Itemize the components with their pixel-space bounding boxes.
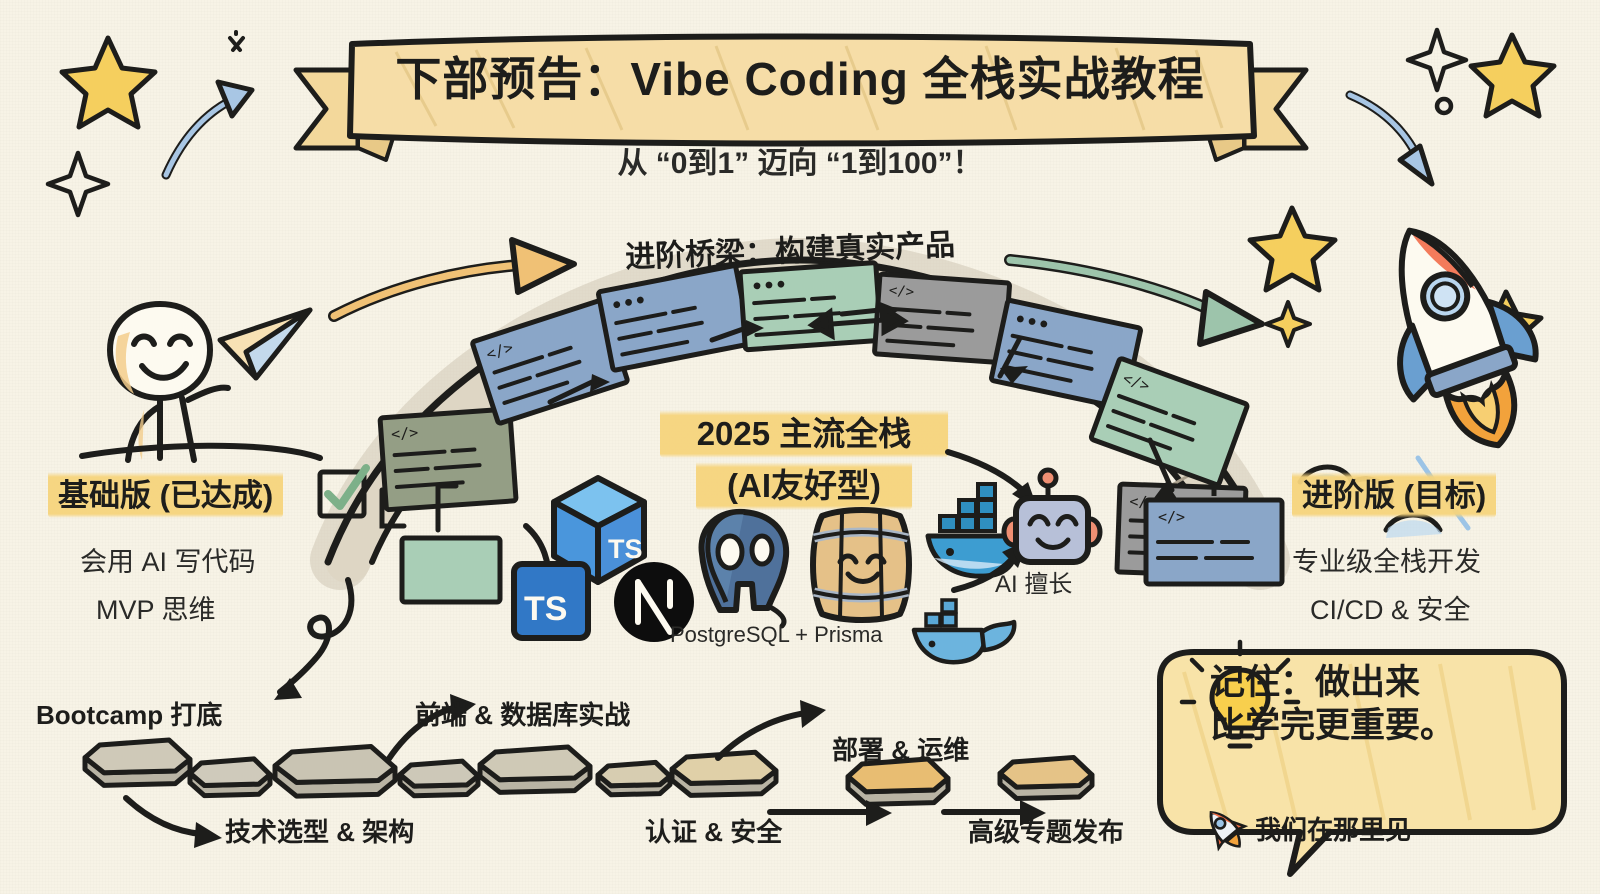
svg-text:</>: </>: [391, 423, 419, 443]
check-icon: [316, 466, 372, 520]
stepping-stone: [598, 762, 670, 794]
advanced-level-line-2: CI/CD & 安全: [1310, 588, 1471, 627]
typescript-square-logo: TS: [508, 558, 598, 648]
stepping-stone: [672, 752, 776, 795]
page-title: 下部预告：Vibe Coding 全栈实战教程: [0, 56, 1600, 102]
prisma-barrel-logo: [800, 500, 922, 630]
code-card: </>: [380, 409, 516, 510]
stepping-stone: [1000, 757, 1092, 798]
infographic-canvas: 下部预告：Vibe Coding 全栈实战教程 从 “0到1” 迈向 “1到10…: [0, 0, 1600, 894]
path-step-label: 认证 & 安全: [645, 812, 782, 849]
callout-text: 记住：做出来 比学完更重要。: [1210, 662, 1540, 747]
sparkle-small-icon: [230, 32, 243, 50]
stack-title-line1: 2025 主流全栈: [660, 406, 948, 458]
basic-level-line-1: 会用 AI 写代码: [80, 540, 256, 579]
code-card: [740, 263, 881, 350]
curved-arrow-down-icon: [1350, 95, 1432, 184]
paper-plane-icon: [220, 310, 310, 378]
path-step-label: 高级专题发布: [968, 812, 1124, 849]
callout-line-1: 记住：做出来: [1210, 662, 1540, 705]
signoff-text: 我们在那里见: [1255, 810, 1411, 847]
curly-arrow-icon: [258, 574, 368, 704]
code-card: </>: [1091, 358, 1248, 485]
advanced-level-heading: 进阶版 (目标): [1292, 468, 1496, 518]
path-step-label: Bootcamp 打底: [36, 695, 222, 732]
stepping-stone: [480, 747, 590, 792]
stepping-stone: [85, 740, 190, 785]
svg-text:</>: </>: [1158, 508, 1185, 526]
code-card: [402, 538, 500, 602]
postgresql-elephant-logo: [682, 498, 812, 630]
stepping-stone: [190, 759, 270, 796]
database-label: PostgreSQL + Prisma: [670, 622, 883, 648]
callout-line-2: 比学完更重要。: [1210, 705, 1540, 748]
stepping-stone: [275, 746, 395, 796]
advanced-level-line-1: 专业级全栈开发: [1292, 540, 1481, 579]
sparkle-icon: [48, 153, 108, 215]
code-card: </>: [1140, 490, 1300, 600]
rocket-icon: [1202, 806, 1248, 852]
page-subtitle: 从 “0到1” 迈向 “1到100”！: [570, 138, 1030, 182]
code-card: [598, 265, 751, 370]
stepping-stone: [400, 761, 478, 796]
basic-level-heading: 基础版 (已达成): [48, 468, 283, 518]
ai-strength-label: AI 擅长: [995, 564, 1072, 599]
svg-text:TS: TS: [524, 590, 567, 628]
basic-level-line-2: MVP 思维: [96, 588, 216, 627]
path-step-label: 部署 & 运维: [832, 730, 969, 767]
path-step-label: 技术选型 & 架构: [225, 812, 414, 849]
path-step-label: 前端 & 数据库实战: [415, 695, 630, 732]
svg-text:</>: </>: [888, 283, 914, 301]
